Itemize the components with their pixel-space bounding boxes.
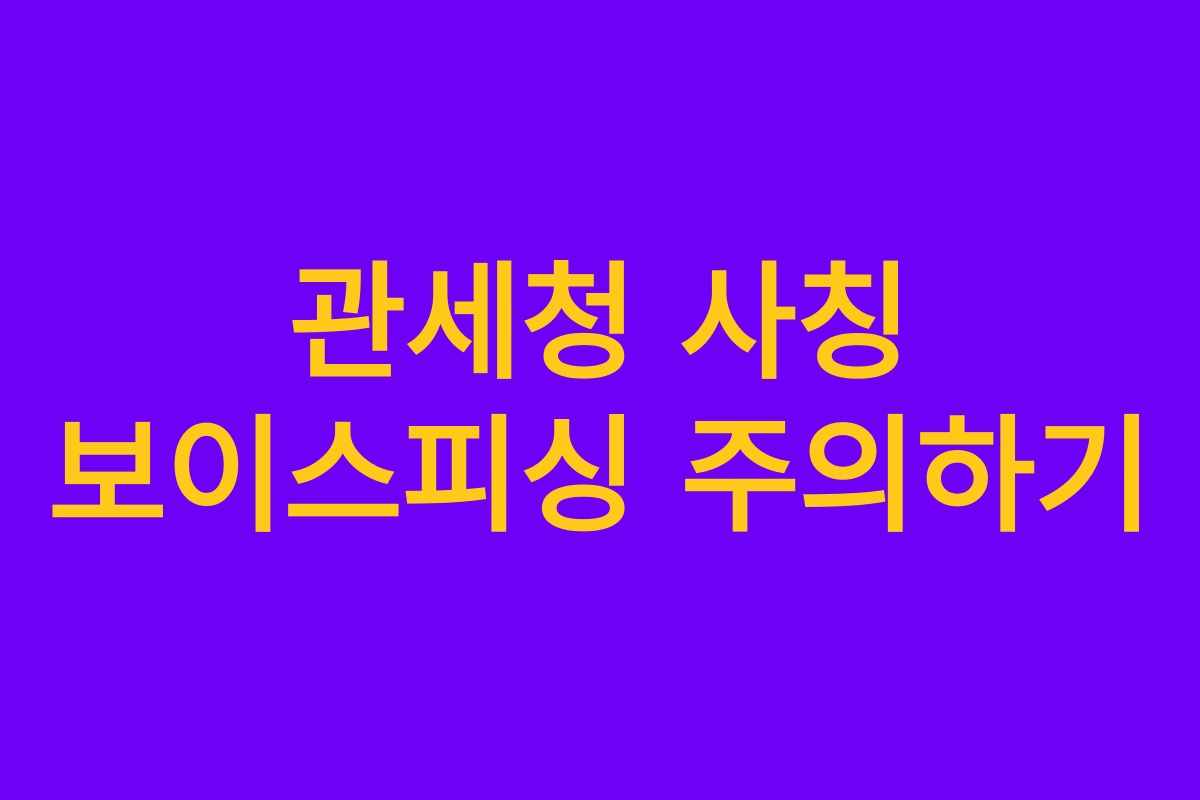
promo-banner: 관세청 사칭 보이스피싱 주의하기	[0, 0, 1200, 800]
headline-block: 관세청 사칭 보이스피싱 주의하기	[0, 246, 1200, 553]
headline-line-1: 관세청 사칭	[0, 246, 1200, 401]
headline-line-2: 보이스피싱 주의하기	[0, 401, 1200, 553]
